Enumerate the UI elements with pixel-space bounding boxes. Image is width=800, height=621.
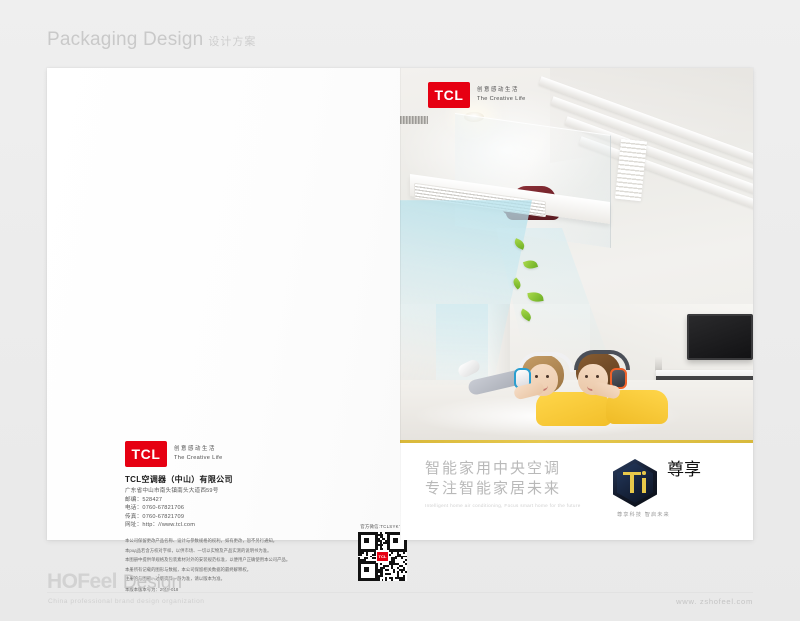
page-footer: HOFeel Design China professional brand d… [0,540,800,621]
sub-brand-tagline: 尊享科技 智启未来 [617,511,670,518]
hofeel-logo-sub: Design [123,572,182,594]
cover-tagline: 智能家用中央空调 专注智能家居未来 Intelligent home air c… [425,459,581,508]
company-tel: 电话：0760-67821706 [125,504,219,513]
wall-tv [687,314,753,360]
cover-photograph: TCL 创意感动生活 The Creative Life [400,68,753,440]
page-header: Packaging Design 设计方案 [0,0,800,64]
tcl-logo-back: TCL 创意感动生活 The Creative Life [125,441,223,467]
tagline-line-1: 智能家用中央空调 [425,459,581,479]
headphones-icon [574,350,630,370]
footer-url: www. zshofeel.com [676,597,753,606]
qr-center-logo: TCL [376,550,389,563]
tcl-slogan-en: The Creative Life [174,455,223,462]
tagline-english: Intelligent home air conditioning, Focus… [425,503,581,508]
company-website: 网址：http：//www.tcl.com [125,521,219,530]
sub-brand-logo: 尊享 尊享科技 智启未来 [605,459,735,521]
company-contact: 广东省中山市南头镇南头大道西59号 邮编：528427 电话：0760-6782… [125,487,219,530]
tcl-slogan-cn: 创意感动生活 [174,446,223,453]
tcl-logo-text: TCL [131,446,160,462]
qr-center-mark: TCL [377,552,388,561]
tcl-logo-mark: TCL [125,441,167,467]
hexagon-icon [613,459,657,507]
ceiling-grille [400,116,428,124]
hofeel-logo: HOFeel Design [47,570,182,594]
company-postcode: 邮编：528427 [125,496,219,505]
tagline-line-2: 专注智能家居未来 [425,479,581,499]
tcl-logo-text: TCL [434,87,463,103]
spread-spine [400,68,401,540]
footer-subtitle: China professional brand design organiza… [48,598,205,605]
tcl-slogan: 创意感动生活 The Creative Life [174,446,223,461]
tcl-slogan-en: The Creative Life [477,96,526,103]
cover-footer: 智能家用中央空调 专注智能家居未来 Intelligent home air c… [400,443,753,540]
tcl-logo-cover: TCL 创意感动生活 The Creative Life [428,82,526,108]
sub-brand-name: 尊享 [667,458,701,481]
wall-louvre-vent [615,139,647,201]
page-title-cn: 设计方案 [208,33,256,49]
company-address: 广东省中山市南头镇南头大道西59号 [125,487,219,496]
tcl-slogan-cn: 创意感动生活 [477,87,526,94]
page-title-en: Packaging Design [47,29,203,51]
company-fax: 传真：0760-67821709 [125,513,219,522]
hofeel-logo-main: HOFeel [47,570,117,594]
mockup-page: Packaging Design 设计方案 TCL 创意感动生活 The Cre… [0,0,800,621]
back-cover-panel: TCL 创意感动生活 The Creative Life TCL空调器（中山）有… [47,68,400,540]
tcl-slogan: 创意感动生活 The Creative Life [477,87,526,102]
company-name: TCL空调器（中山）有限公司 [125,474,233,485]
page-title: Packaging Design 设计方案 [47,29,256,51]
brochure-spread: TCL 创意感动生活 The Creative Life TCL空调器（中山）有… [47,68,753,540]
front-cover-panel: TCL 创意感动生活 The Creative Life 智能家用中央空调 专注… [400,68,753,540]
tcl-logo-mark: TCL [428,82,470,108]
children-photo-subject [458,344,658,440]
